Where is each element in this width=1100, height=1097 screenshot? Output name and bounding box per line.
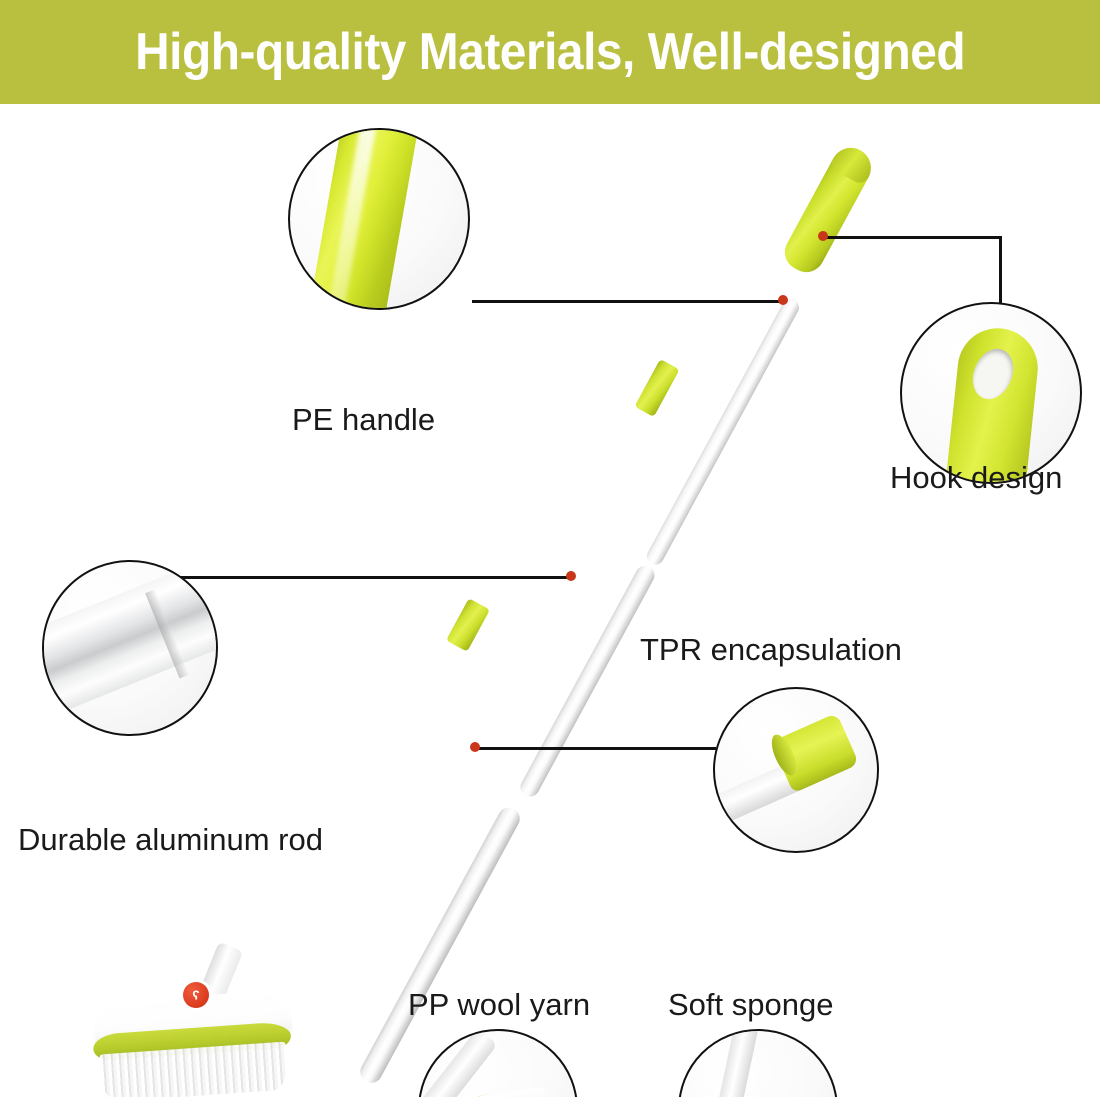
callout-label-soft-sponge: Soft sponge <box>668 989 833 1020</box>
leader-line-hook-vertical <box>999 236 1002 308</box>
infographic-page: High-quality Materials, Well-designed ʕ <box>0 0 1100 1097</box>
callout-circle-pe-handle <box>288 128 470 310</box>
release-button-glyph: ʕ <box>192 989 199 1002</box>
leader-line-tpr <box>478 747 716 750</box>
callout-circle-soft-sponge <box>678 1029 838 1097</box>
callout-label-pp-wool-yarn: PP wool yarn <box>408 989 590 1020</box>
product-photo: ʕ PE handle Hook design Durable aluminum… <box>0 104 1100 1097</box>
pp-brush-neck <box>418 1029 498 1097</box>
tpr-collar-lower <box>446 598 490 652</box>
handle-hook-tip <box>829 141 878 186</box>
tpr-collar-upper <box>634 359 679 417</box>
header-banner: High-quality Materials, Well-designed <box>0 0 1100 104</box>
release-button-icon: ʕ <box>183 982 209 1008</box>
callout-circle-tpr-encapsulation <box>713 687 879 853</box>
leader-anchor-hook <box>818 231 828 241</box>
leader-anchor-pe-handle <box>778 295 788 305</box>
brush-head-assembly: ʕ <box>95 964 305 1094</box>
leader-anchor-tpr <box>470 742 480 752</box>
leader-line-hook-horizontal <box>826 236 1002 239</box>
callout-label-pe-handle: PE handle <box>292 404 435 435</box>
callout-label-aluminum-rod: Durable aluminum rod <box>18 824 323 855</box>
pole-segment-middle <box>517 562 658 800</box>
pe-handle-grip <box>778 141 878 279</box>
callout-circle-pp-wool-yarn <box>418 1029 578 1097</box>
callout-label-tpr-encapsulation: TPR encapsulation <box>640 634 902 665</box>
page-title: High-quality Materials, Well-designed <box>135 26 965 78</box>
callout-circle-hook-design <box>900 302 1082 484</box>
leader-line-pe-handle <box>472 300 784 303</box>
sponge-head-closeup-icon <box>688 1091 817 1097</box>
leader-anchor-aluminum-rod <box>566 571 576 581</box>
callout-circle-aluminum-rod <box>42 560 218 736</box>
callout-label-hook-design: Hook design <box>890 462 1062 493</box>
aluminum-rod-closeup-icon <box>42 560 218 720</box>
sponge-neck <box>713 1029 759 1097</box>
pole-segment-upper <box>644 296 802 568</box>
